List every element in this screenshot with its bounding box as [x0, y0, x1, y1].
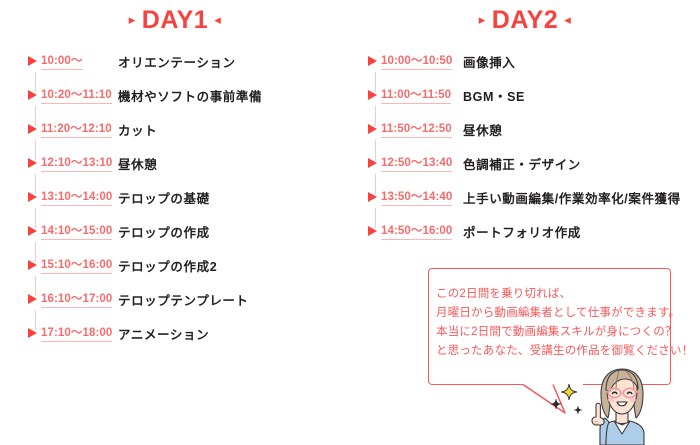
timeline-row-time: 15:10～16:00: [41, 256, 112, 274]
timeline-row[interactable]: 11:50～12:50 昼休憩: [368, 120, 700, 154]
sparkle-icon: [561, 384, 577, 400]
timeline-row-title: テロップの基礎: [118, 188, 210, 207]
timeline-row-title: テロップの作成: [118, 222, 210, 241]
speech-bubble-line: 本当に2日間で動画編集スキルが身につくの？: [436, 323, 668, 342]
day-column-1: ▸DAY1◂ 10:00～ オリエンテーション 10:20～11:10 機材やソ…: [0, 0, 350, 445]
timeline-row-title: 色調補正・デザイン: [463, 154, 581, 173]
timeline-row-time: 13:10～14:00: [41, 188, 112, 206]
triangle-bullet-icon: [28, 226, 37, 236]
right-blush: [630, 398, 636, 402]
timeline-row-time: 12:10～13:10: [41, 154, 112, 172]
timeline-row-title: テロップテンプレート: [118, 290, 249, 309]
day2-timeline: 10:00～10:50 画像挿入 11:00～11:50 BGM・SE 11:5…: [368, 52, 700, 256]
triangle-bullet-icon: [28, 294, 37, 304]
timeline-row[interactable]: 11:00～11:50 BGM・SE: [368, 86, 700, 120]
triangle-bullet-icon: [28, 158, 37, 168]
speech-bubble-line: この2日間を乗り切れば、: [436, 285, 668, 304]
timeline-row[interactable]: 10:00～ オリエンテーション: [28, 52, 378, 86]
timeline-row[interactable]: 10:00～10:50 画像挿入: [368, 52, 700, 86]
timeline-row[interactable]: 12:10～13:10 昼休憩: [28, 154, 378, 188]
timeline-row-title: 上手い動画編集/作業効率化/案件獲得: [463, 188, 681, 207]
triangle-bullet-icon: [368, 90, 377, 100]
timeline-row-title: 機材やソフトの事前準備: [118, 86, 262, 105]
triangle-bullet-icon: [368, 56, 377, 66]
day2-heading: ▸DAY2◂: [350, 5, 700, 35]
triangle-bullet-icon: [28, 90, 37, 100]
timeline-row-time: 12:50～13:40: [381, 154, 452, 172]
speech-bubble-text: この2日間を乗り切れば、 月曜日から動画編集者として仕事ができます。 本当に2日…: [436, 285, 668, 361]
triangle-bullet-icon: [368, 226, 377, 236]
timeline-row-time: 13:50～14:40: [381, 188, 452, 206]
timeline-row[interactable]: 15:10～16:00 テロップの作成2: [28, 256, 378, 290]
timeline-row-title: 画像挿入: [463, 52, 515, 71]
timeline-row-title: 昼休憩: [118, 154, 157, 173]
day2-heading-label: DAY2: [492, 5, 558, 35]
timeline-row-title: 昼休憩: [463, 120, 502, 139]
timeline-row-title: オリエンテーション: [118, 52, 236, 71]
timeline-row-title: ポートフォリオ作成: [463, 222, 581, 241]
timeline-row-title: アニメーション: [118, 324, 209, 343]
female-character-illustration: [576, 364, 662, 445]
day1-heading: ▸DAY1◂: [0, 5, 350, 35]
timeline-row-title: カット: [118, 120, 157, 139]
timeline-row-time: 17:10～18:00: [41, 324, 112, 342]
timeline-row-time: 10:00～10:50: [381, 52, 452, 70]
triangle-bullet-icon: [368, 192, 377, 202]
triangle-left-icon: ◂: [564, 13, 571, 26]
left-blush: [608, 398, 614, 402]
sparkle-icon-small: [551, 399, 561, 409]
triangle-right-icon: ▸: [479, 13, 486, 26]
timeline-row-time: 16:10～17:00: [41, 290, 112, 308]
timeline-row[interactable]: 17:10～18:00 アニメーション: [28, 324, 378, 358]
triangle-left-icon: ◂: [214, 13, 221, 26]
timeline-row-time: 11:50～12:50: [381, 120, 452, 138]
timeline-row[interactable]: 13:10～14:00 テロップの基礎: [28, 188, 378, 222]
timeline-row[interactable]: 13:50～14:40 上手い動画編集/作業効率化/案件獲得: [368, 188, 700, 222]
timeline-row-time: 10:00～: [41, 52, 83, 70]
triangle-right-icon: ▸: [129, 13, 136, 26]
timeline-row[interactable]: 16:10～17:00 テロップテンプレート: [28, 290, 378, 324]
triangle-bullet-icon: [28, 192, 37, 202]
schedule-root: ▸DAY1◂ 10:00～ オリエンテーション 10:20～11:10 機材やソ…: [0, 0, 700, 445]
timeline-row-time: 11:20～12:10: [41, 120, 112, 138]
timeline-row[interactable]: 14:50～16:00 ポートフォリオ作成: [368, 222, 700, 256]
triangle-bullet-icon: [28, 124, 37, 134]
timeline-row-title: BGM・SE: [463, 86, 525, 105]
day1-heading-label: DAY1: [142, 5, 208, 35]
triangle-bullet-icon: [28, 56, 37, 66]
timeline-row[interactable]: 11:20～12:10 カット: [28, 120, 378, 154]
speech-bubble-line: と思ったあなた、受講生の作品を御覧ください！: [436, 342, 668, 361]
timeline-row[interactable]: 10:20～11:10 機材やソフトの事前準備: [28, 86, 378, 120]
triangle-bullet-icon: [368, 158, 377, 168]
timeline-row[interactable]: 12:50～13:40 色調補正・デザイン: [368, 154, 700, 188]
timeline-row-time: 11:00～11:50: [381, 86, 451, 104]
triangle-bullet-icon: [28, 328, 37, 338]
day1-timeline: 10:00～ オリエンテーション 10:20～11:10 機材やソフトの事前準備…: [28, 52, 378, 358]
timeline-row[interactable]: 14:10～15:00 テロップの作成: [28, 222, 378, 256]
timeline-row-time: 14:10～15:00: [41, 222, 112, 240]
timeline-row-time: 14:50～16:00: [381, 222, 452, 240]
timeline-row-time: 10:20～11:10: [41, 86, 112, 104]
triangle-bullet-icon: [28, 260, 37, 270]
timeline-row-title: テロップの作成2: [118, 256, 217, 275]
triangle-bullet-icon: [368, 124, 377, 134]
speech-bubble-line: 月曜日から動画編集者として仕事ができます。: [436, 304, 668, 323]
